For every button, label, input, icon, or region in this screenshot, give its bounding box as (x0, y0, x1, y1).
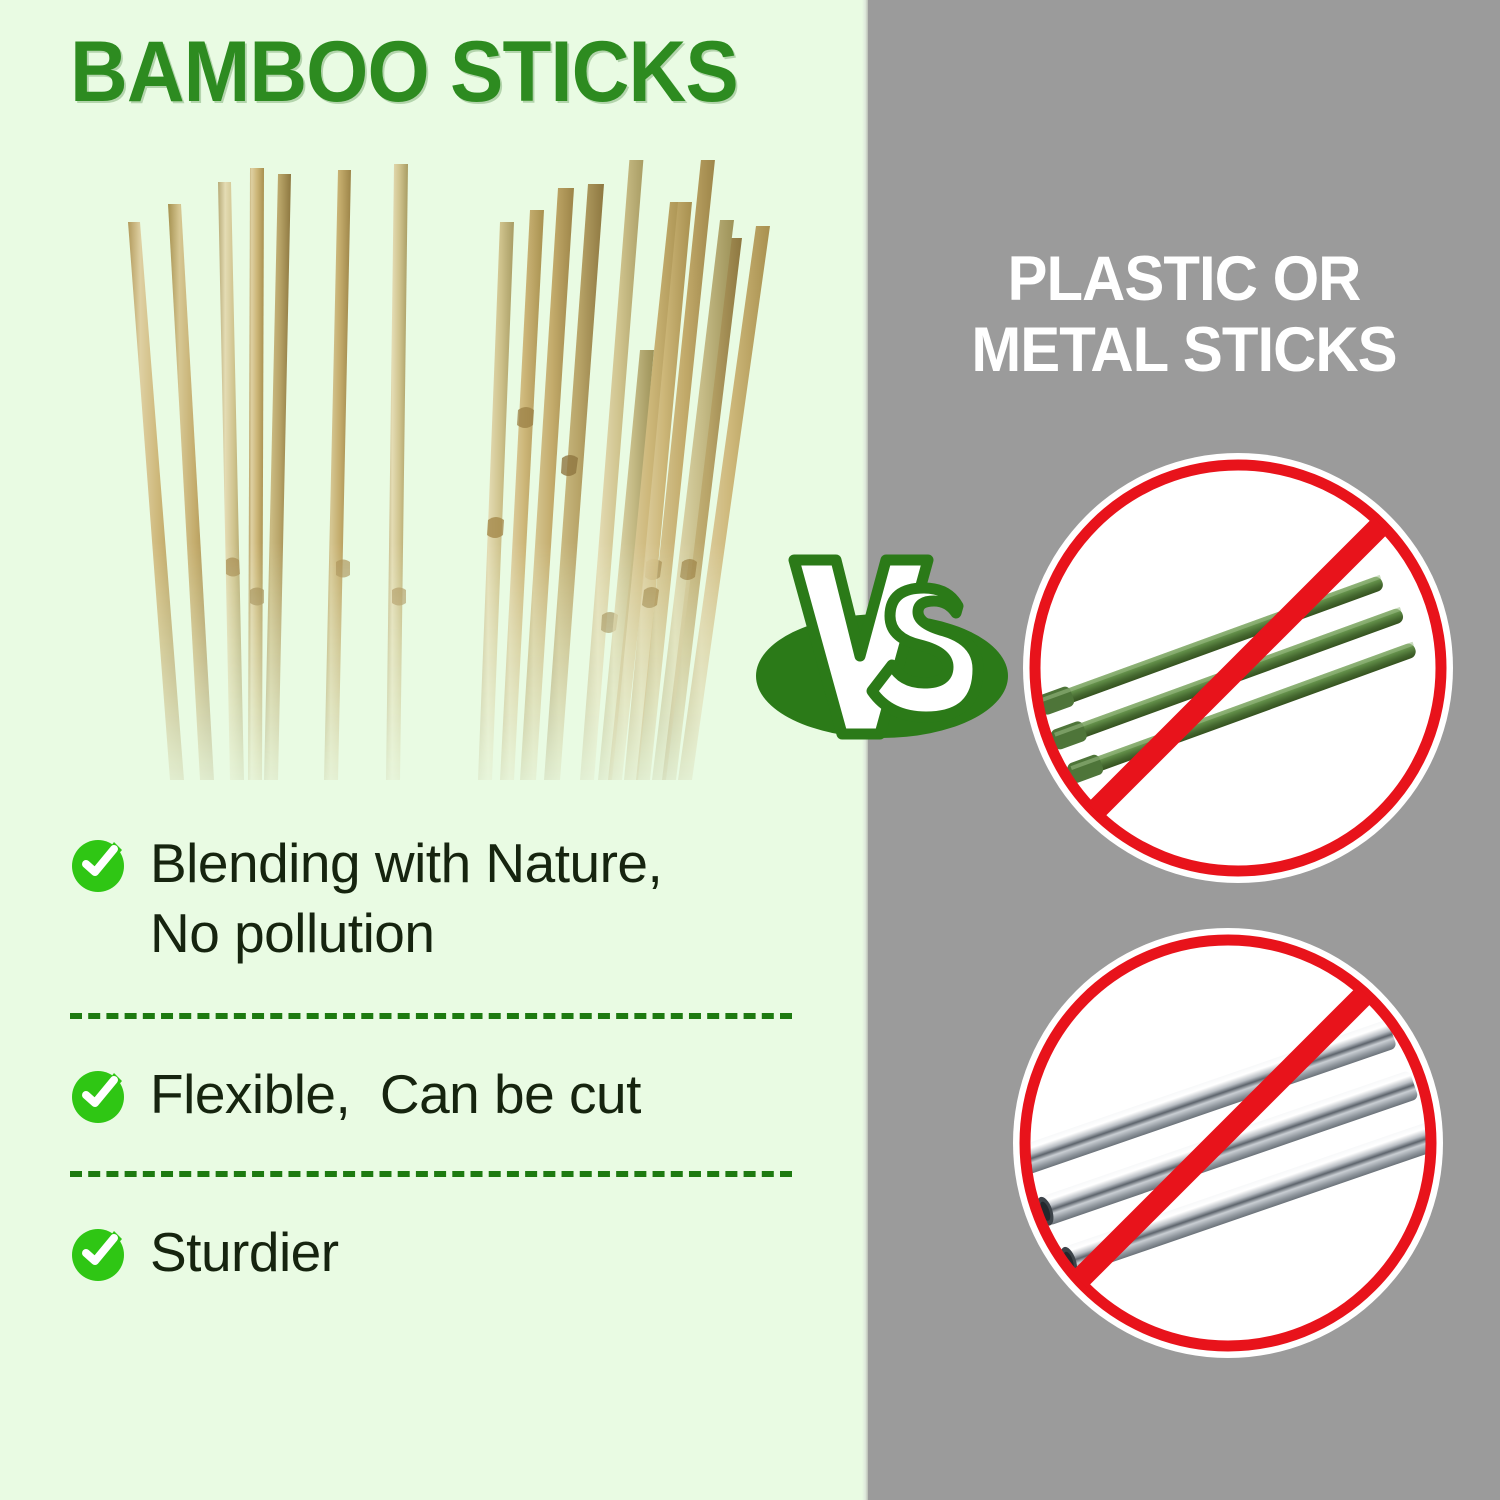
versus-badge-icon: VS (752, 548, 1007, 753)
infographic-canvas: BAMBOO STICKS (0, 0, 1500, 1500)
feature-separator-1 (70, 1013, 792, 1019)
feature-label: Blending with Nature, No pollution (150, 828, 662, 969)
feature-label: Sturdier (150, 1217, 339, 1287)
check-circle-icon (70, 836, 128, 894)
prohibition-sign-metal (1013, 928, 1443, 1358)
feature-item-2: Sturdier (70, 1217, 810, 1287)
right-panel-title: PLASTIC OR METAL STICKS (884, 244, 1484, 385)
prohibition-sign-plastic (1023, 453, 1453, 883)
right-title-line-2: METAL STICKS (884, 315, 1484, 386)
feature-item-0: Blending with Nature, No pollution (70, 828, 810, 969)
right-title-line-1: PLASTIC OR (884, 244, 1484, 315)
page-title: BAMBOO STICKS (70, 28, 738, 117)
feature-list: Blending with Nature, No pollution Flexi… (70, 828, 810, 1288)
check-circle-icon (70, 1225, 128, 1283)
check-circle-icon (70, 1067, 128, 1125)
feature-item-1: Flexible, Can be cut (70, 1059, 810, 1129)
feature-separator-2 (70, 1171, 792, 1177)
feature-label: Flexible, Can be cut (150, 1059, 641, 1129)
